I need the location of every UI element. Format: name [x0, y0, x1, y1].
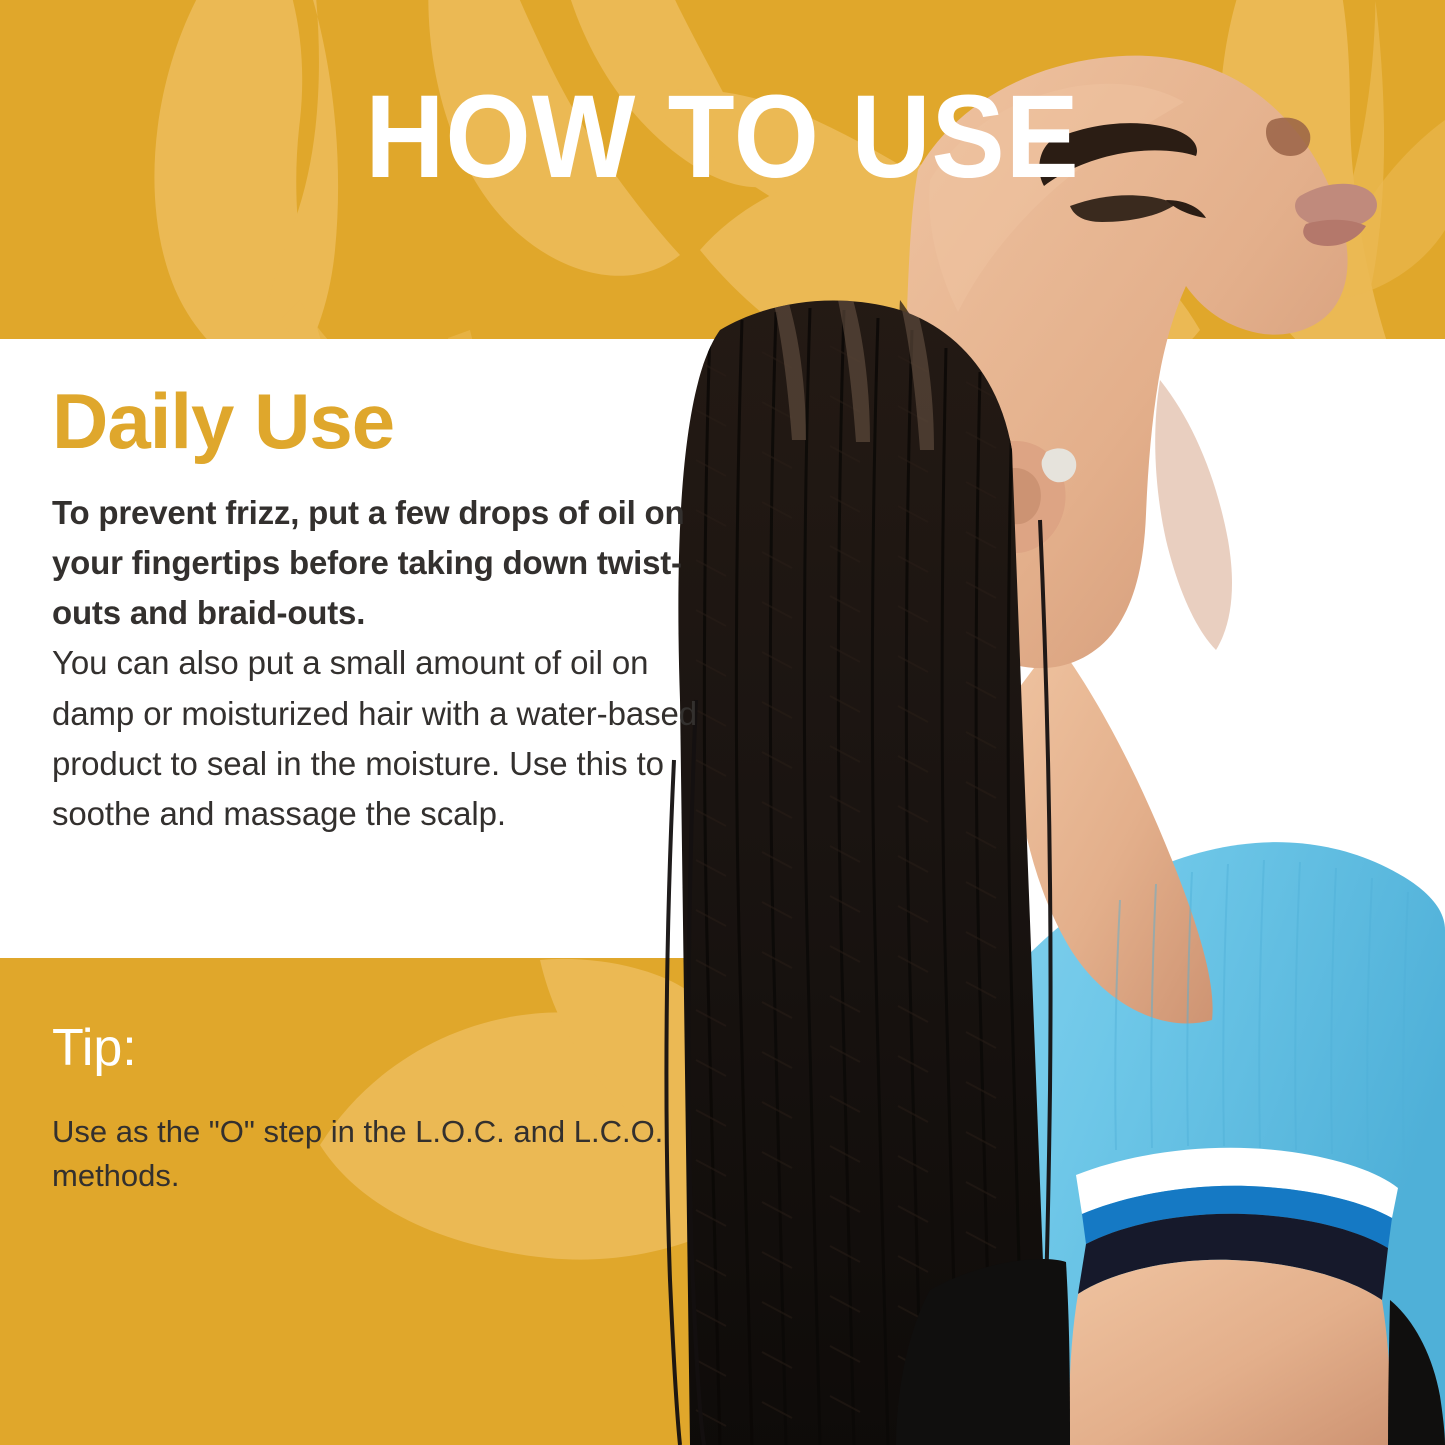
sleeve-band-blue	[1082, 1186, 1392, 1248]
tip-section: Tip: Use as the "O" step in the L.O.C. a…	[52, 1022, 672, 1198]
section-heading: Daily Use	[52, 382, 722, 460]
lower-lip	[1303, 220, 1366, 246]
tip-text: Use as the "O" step in the L.O.C. and L.…	[52, 1110, 672, 1198]
body-paragraph-regular: You can also put a small amount of oil o…	[52, 638, 722, 839]
pants-left	[896, 1259, 1070, 1445]
sleeve-band-navy	[1078, 1214, 1388, 1300]
eyelashes	[1166, 200, 1206, 218]
closed-eye	[1070, 195, 1176, 222]
sleeve-band-white	[1076, 1148, 1398, 1218]
pants-right	[1388, 1300, 1445, 1445]
page-title: HOW TO USE	[51, 78, 1395, 196]
daily-use-section: Daily Use To prevent frizz, put a few dr…	[52, 382, 722, 839]
poster-canvas: HOW TO USE Daily Use To prevent frizz, p…	[0, 0, 1445, 1445]
body-paragraph-bold: To prevent frizz, put a few drops of oil…	[52, 488, 722, 638]
forearm	[1069, 1260, 1390, 1445]
tip-heading: Tip:	[52, 1022, 672, 1074]
